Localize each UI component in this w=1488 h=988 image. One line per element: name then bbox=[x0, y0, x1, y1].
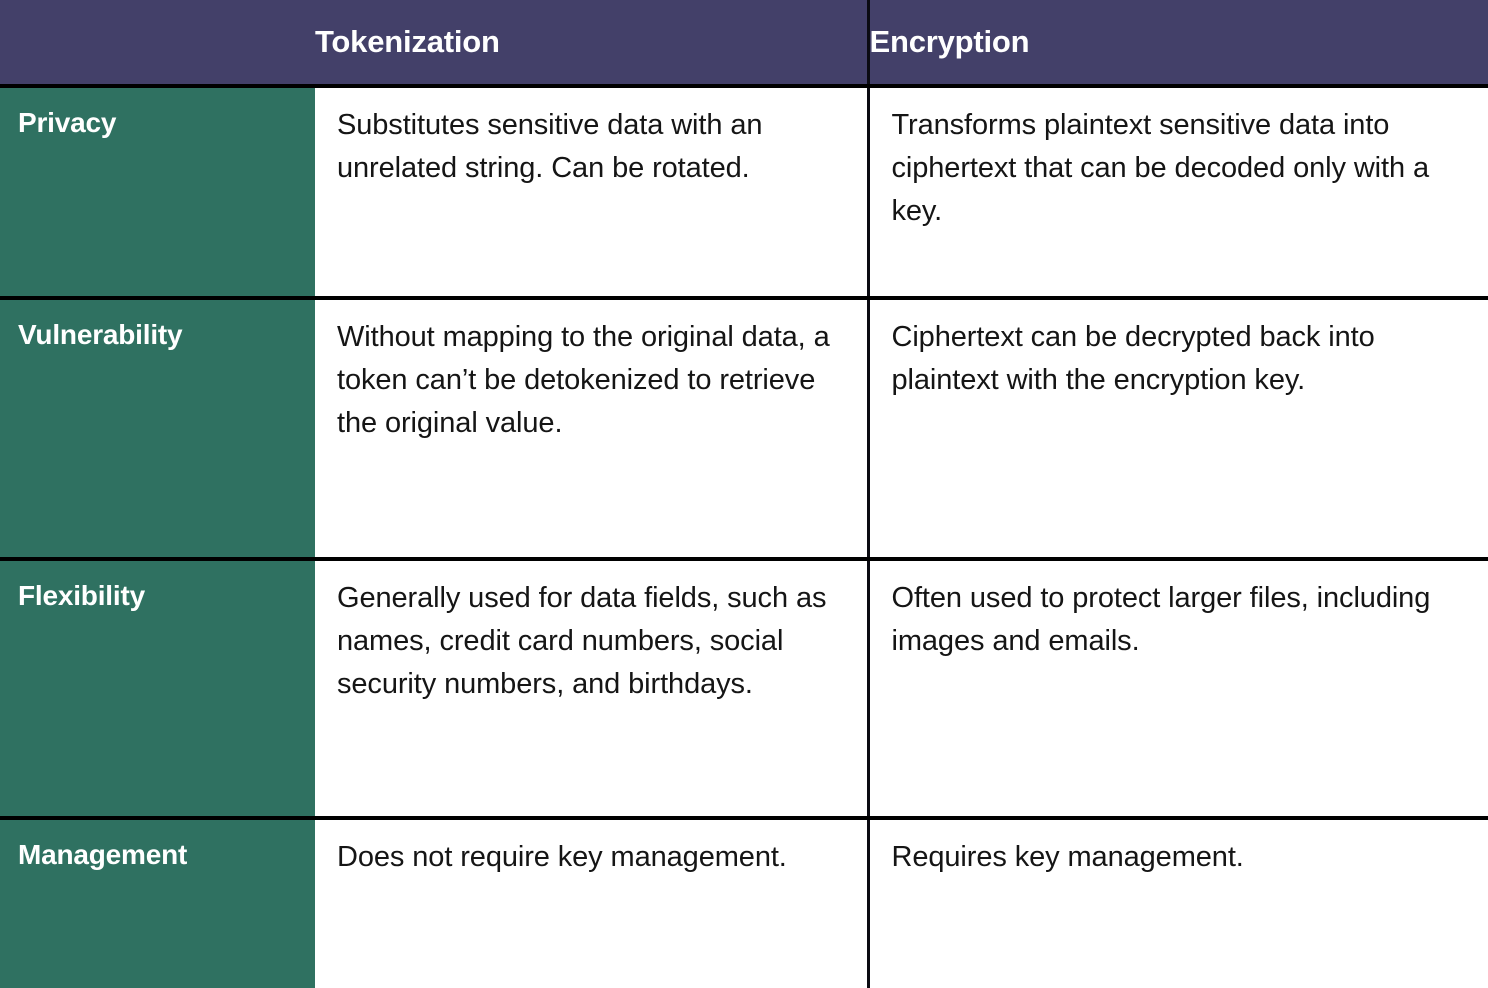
table-row: Privacy Substitutes sensitive data with … bbox=[0, 86, 1488, 298]
cell-vulnerability-encryption: Ciphertext can be decrypted back into pl… bbox=[868, 298, 1488, 559]
cell-flexibility-encryption: Often used to protect larger files, incl… bbox=[868, 559, 1488, 818]
cell-privacy-tokenization: Substitutes sensitive data with an unrel… bbox=[315, 86, 868, 298]
cell-flexibility-tokenization: Generally used for data fields, such as … bbox=[315, 559, 868, 818]
table-body: Privacy Substitutes sensitive data with … bbox=[0, 86, 1488, 988]
cell-vulnerability-tokenization: Without mapping to the original data, a … bbox=[315, 298, 868, 559]
cell-management-encryption: Requires key management. bbox=[868, 818, 1488, 988]
cell-management-tokenization: Does not require key management. bbox=[315, 818, 868, 988]
header-corner-cell bbox=[0, 0, 315, 86]
header-cell-encryption: Encryption bbox=[868, 0, 1488, 86]
comparison-table: Tokenization Encryption Privacy Substitu… bbox=[0, 0, 1488, 988]
header-cell-tokenization: Tokenization bbox=[315, 0, 868, 86]
cell-privacy-encryption: Transforms plaintext sensitive data into… bbox=[868, 86, 1488, 298]
row-label-management: Management bbox=[0, 818, 315, 988]
row-label-vulnerability: Vulnerability bbox=[0, 298, 315, 559]
comparison-table-container: Tokenization Encryption Privacy Substitu… bbox=[0, 0, 1488, 828]
table-header: Tokenization Encryption bbox=[0, 0, 1488, 86]
table-row: Management Does not require key manageme… bbox=[0, 818, 1488, 988]
header-row: Tokenization Encryption bbox=[0, 0, 1488, 86]
table-row: Flexibility Generally used for data fiel… bbox=[0, 559, 1488, 818]
table-row: Vulnerability Without mapping to the ori… bbox=[0, 298, 1488, 559]
row-label-flexibility: Flexibility bbox=[0, 559, 315, 818]
row-label-privacy: Privacy bbox=[0, 86, 315, 298]
